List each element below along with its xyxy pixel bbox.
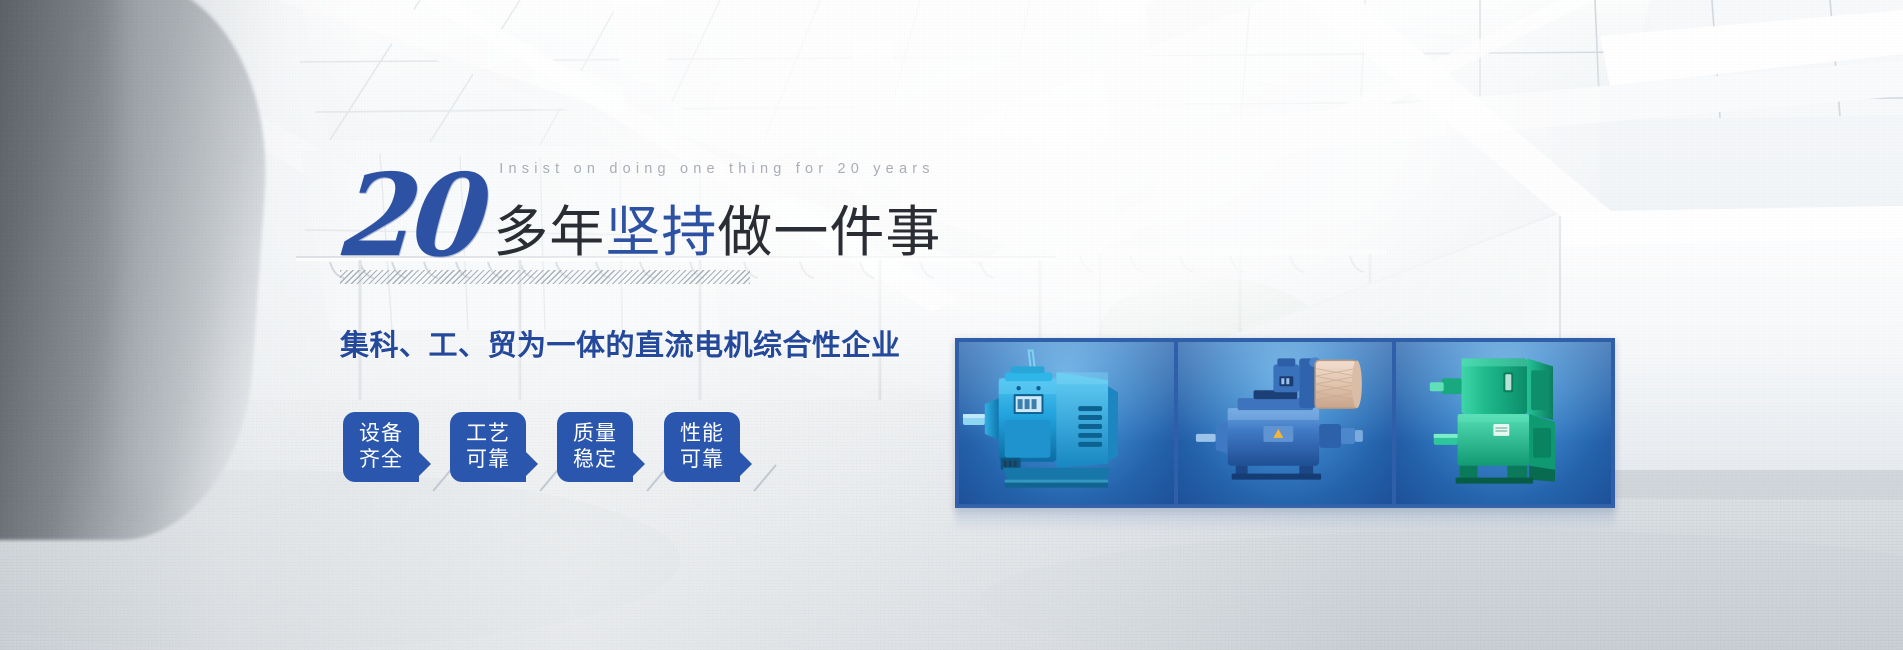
feature-badge-line1: 性能 (680, 421, 724, 447)
feature-badge-line2: 可靠 (466, 447, 510, 473)
feature-badge-line1: 质量 (573, 421, 617, 447)
feature-badge-line2: 齐全 (359, 447, 403, 473)
feature-badge[interactable]: 质量 稳定 (557, 412, 633, 482)
product-image-1[interactable] (959, 342, 1174, 504)
feature-badge-body: 工艺 可靠 (450, 412, 526, 482)
feature-badge-line2: 可靠 (680, 447, 724, 473)
feature-badge-list: 设备 齐全 工艺 可靠 质量 稳定 (343, 412, 740, 482)
banner-content: 20 Insist on doing one thing for 20 year… (0, 0, 1903, 650)
feature-badge-tail-icon (419, 452, 431, 476)
headline-chinese: 多年坚持做一件事 (493, 205, 941, 260)
headline-chinese-suffix: 做一件事 (717, 200, 941, 264)
feature-badge-tail-icon (633, 452, 645, 476)
panel-reflection (955, 508, 1615, 530)
product-showcase-panel (955, 338, 1615, 508)
product-image-3[interactable] (1396, 342, 1611, 504)
english-tagline: Insist on doing one thing for 20 years (499, 161, 934, 177)
feature-badge-line1: 工艺 (466, 421, 510, 447)
headline: 20 Insist on doing one thing for 20 year… (345, 150, 941, 260)
headline-chinese-prefix: 多年 (493, 200, 605, 264)
hero-banner: 20 Insist on doing one thing for 20 year… (0, 0, 1903, 650)
headline-chinese-highlight: 坚持 (605, 200, 717, 264)
feature-badge-line2: 稳定 (573, 447, 617, 473)
feature-badge-body: 质量 稳定 (557, 412, 633, 482)
feature-badge-body: 设备 齐全 (343, 412, 419, 482)
headline-text-group: Insist on doing one thing for 20 years 多… (493, 205, 941, 260)
feature-badge[interactable]: 工艺 可靠 (450, 412, 526, 482)
feature-badge-slash-icon (753, 464, 776, 491)
feature-badge[interactable]: 性能 可靠 (664, 412, 740, 482)
feature-badge-tail-icon (740, 452, 752, 476)
subtitle: 集科、工、贸为一体的直流电机综合性企业 (340, 322, 901, 364)
feature-badge-body: 性能 可靠 (664, 412, 740, 482)
product-showcase-inner (959, 342, 1611, 504)
product-image-2[interactable] (1178, 342, 1393, 504)
dc-motor-blue-large-icon (959, 342, 1174, 504)
dc-motor-green-tall-icon (1396, 342, 1611, 504)
headline-number: 20 (340, 167, 489, 267)
feature-badge-line1: 设备 (359, 421, 403, 447)
dc-motor-blue-blower-icon (1178, 342, 1393, 504)
feature-badge[interactable]: 设备 齐全 (343, 412, 419, 482)
feature-badge-tail-icon (526, 452, 538, 476)
hatched-divider (340, 270, 750, 284)
